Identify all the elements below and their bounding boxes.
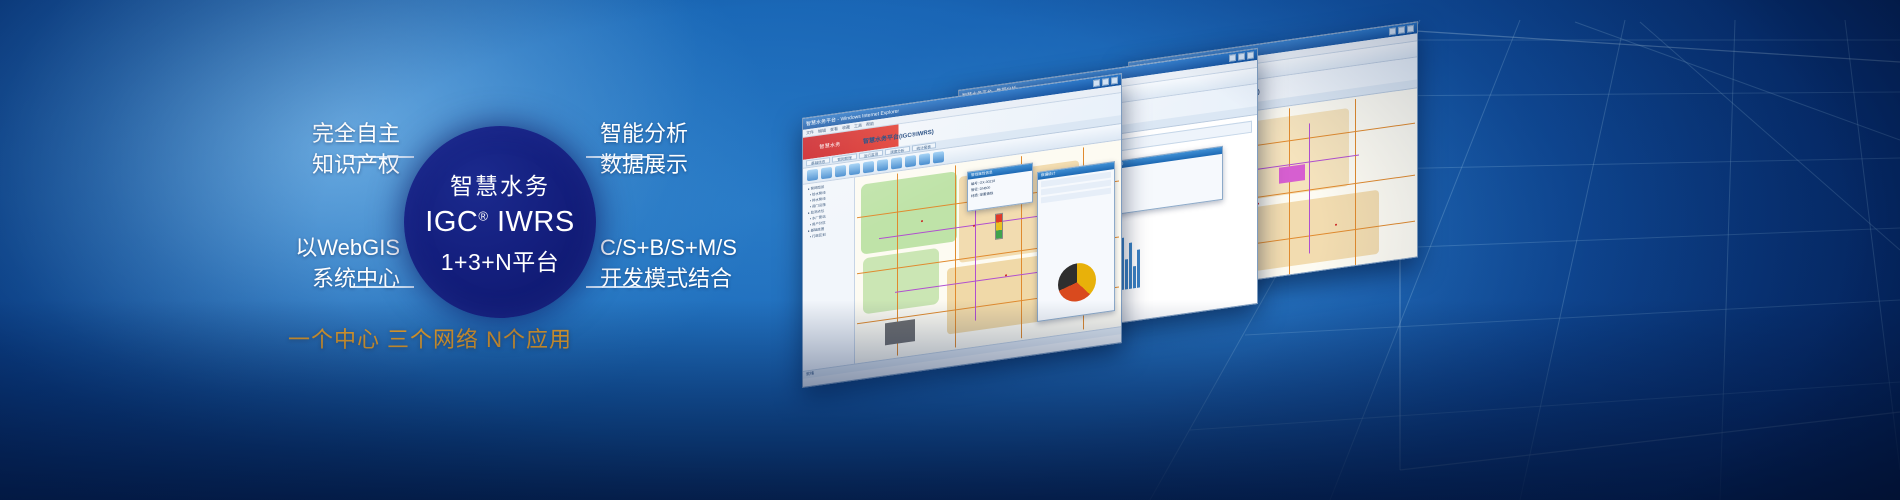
feature-bottom-right-line1: C/S+B/S+M/S (600, 232, 737, 263)
feature-top-right: 智能分析 数据展示 (600, 118, 688, 180)
feature-bottom-right: C/S+B/S+M/S 开发模式结合 (600, 232, 737, 294)
hub-subtitle: 1+3+N平台 (441, 243, 560, 277)
hub-title: 智慧水务 (450, 167, 550, 201)
statistics-panel[interactable]: 数据统计 (1037, 161, 1115, 322)
hub-brand-main: IGC (425, 206, 478, 238)
connector-top-left (350, 156, 414, 158)
registered-icon: ® (478, 208, 488, 223)
tagline: 一个中心 三个网络 N个应用 (150, 322, 710, 354)
feature-top-right-line1: 智能分析 (600, 118, 688, 149)
screenshot-stack: 智慧水务平台 - 管网总览 智慧水务 智慧水务平台(IGC®IWRS) 基础信息… (790, 50, 1310, 380)
hub-circle: 智慧水务 IGC® IWRS 1+3+N平台 (404, 126, 596, 318)
feature-top-left-line2: 知识产权 (180, 149, 400, 180)
pie-chart (1058, 261, 1096, 304)
gis-map-canvas[interactable]: 管线属性信息 编号: GX-00218管径: DN800材质: 球墨铸铁 数据统… (855, 140, 1121, 363)
menu-item[interactable]: 收藏 (842, 124, 850, 131)
concept-diagram: 完全自主 知识产权 以WebGIS 系统中心 智能分析 数据展示 C/S+B/S… (0, 0, 820, 500)
feature-top-left: 完全自主 知识产权 (180, 118, 400, 180)
feature-bottom-left: 以WebGIS 系统中心 (180, 232, 400, 294)
popup-panel[interactable]: 流量趋势 (1105, 146, 1223, 217)
feature-bottom-left-line2: 系统中心 (180, 263, 400, 294)
legend-swatch (995, 213, 1003, 240)
connector-top-right (586, 156, 650, 158)
banner-stage: 智慧水务平台 - 管网总览 智慧水务 智慧水务平台(IGC®IWRS) 基础信息… (0, 0, 1900, 500)
feature-bottom-left-line1: 以WebGIS (180, 232, 400, 263)
menu-item[interactable]: 帮助 (866, 120, 874, 127)
hub-brand: IGC® IWRS (425, 206, 574, 239)
connector-bottom-left (350, 286, 414, 288)
feature-top-left-line1: 完全自主 (180, 118, 400, 149)
feature-bottom-right-line2: 开发模式结合 (600, 263, 737, 294)
window-front[interactable]: 智慧水务平台 - Windows Internet Explorer 文件 编辑… (802, 73, 1122, 388)
menu-item[interactable]: 工具 (854, 122, 862, 129)
feature-top-right-line2: 数据展示 (600, 149, 688, 180)
menu-item[interactable]: 查看 (830, 125, 838, 132)
hub-brand-suffix: IWRS (497, 206, 575, 238)
connector-bottom-right (586, 286, 650, 288)
